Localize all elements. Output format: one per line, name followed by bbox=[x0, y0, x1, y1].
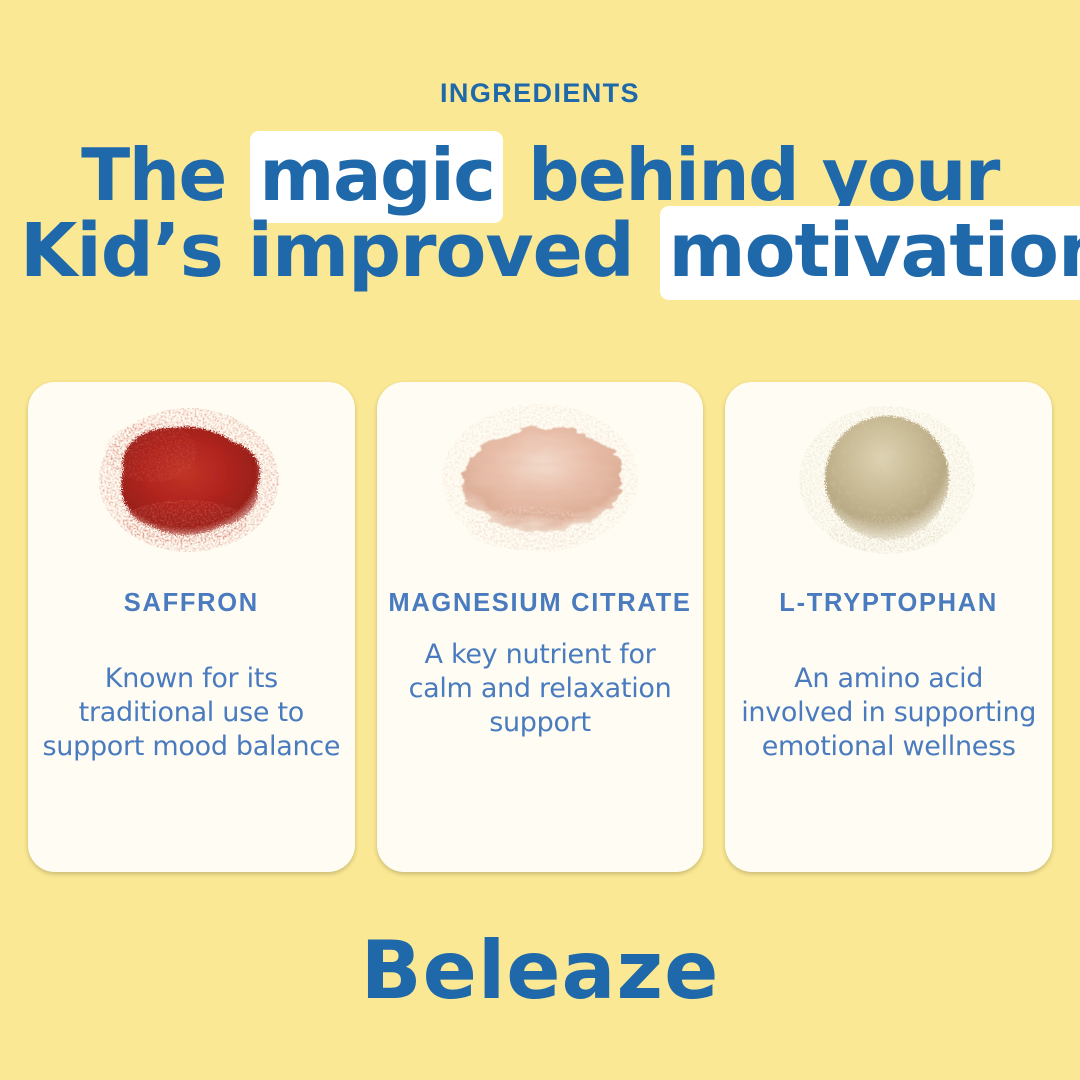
page-title: The magic behind your Kid’s improved mot… bbox=[20, 137, 1060, 289]
saffron-powder-icon bbox=[61, 400, 321, 560]
ingredient-description: An amino acid involved in supporting emo… bbox=[725, 662, 1052, 764]
brand-logo: Beleaze bbox=[0, 930, 1080, 1012]
l-tryptophan-powder-icon bbox=[759, 400, 1019, 560]
headline-text-3: Kid’s improved bbox=[20, 208, 659, 294]
headline-text-1: The bbox=[81, 133, 249, 217]
ingredient-card-magnesium-citrate[interactable]: MAGNESIUM CITRATE A key nutrient for cal… bbox=[377, 382, 704, 872]
headline-highlight-motivation: motivation bbox=[660, 206, 1080, 300]
magnesium-citrate-powder-image bbox=[377, 382, 704, 577]
ingredient-title: L-TRYPTOPHAN bbox=[771, 589, 1006, 618]
ingredient-card-saffron[interactable]: SAFFRON Known for its traditional use to… bbox=[28, 382, 355, 872]
ingredient-description: Known for its traditional use to support… bbox=[28, 662, 355, 764]
headline-line-2: Kid’s improved motivation bbox=[20, 213, 1060, 289]
headline-line-1: The magic behind your bbox=[20, 137, 1060, 213]
ingredient-title: SAFFRON bbox=[116, 589, 267, 618]
ingredient-card-l-tryptophan[interactable]: L-TRYPTOPHAN An amino acid involved in s… bbox=[725, 382, 1052, 872]
ingredient-title: MAGNESIUM CITRATE bbox=[380, 589, 699, 618]
ingredients-infographic: INGREDIENTS The magic behind your Kid’s … bbox=[0, 0, 1080, 1080]
saffron-powder-image bbox=[28, 382, 355, 577]
ingredient-card-list: SAFFRON Known for its traditional use to… bbox=[28, 382, 1052, 872]
l-tryptophan-powder-image bbox=[725, 382, 1052, 577]
eyebrow-label: INGREDIENTS bbox=[440, 80, 640, 107]
magnesium-citrate-powder-icon bbox=[410, 400, 670, 560]
headline-text-2: behind your bbox=[504, 133, 998, 217]
ingredient-description: A key nutrient for calm and relaxation s… bbox=[377, 638, 704, 740]
